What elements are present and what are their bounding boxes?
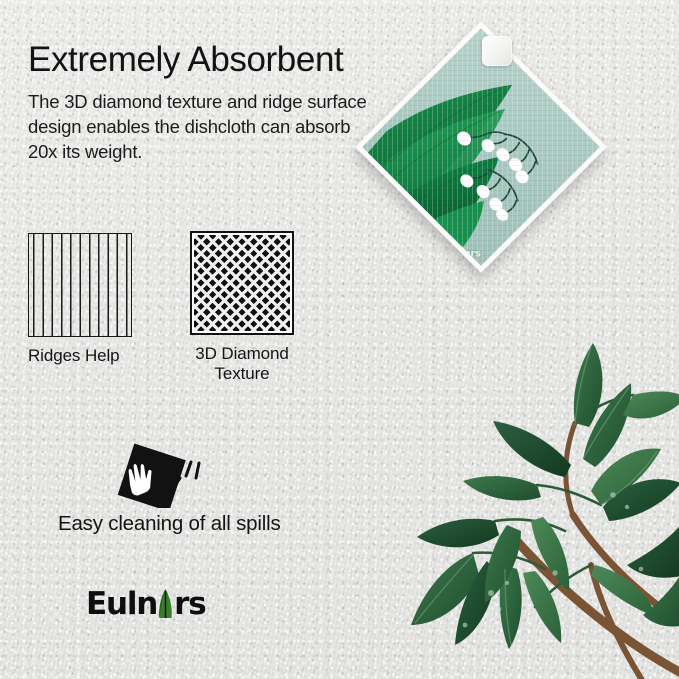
brand-text-suffix: rs (174, 586, 205, 622)
feature-ridges-label: Ridges Help (28, 346, 132, 366)
feature-ridges: Ridges Help (28, 233, 132, 366)
brand-logo: Euln rs (86, 586, 206, 622)
cloth-clip-icon (482, 36, 512, 66)
feature-diamond-texture: 3D Diamond Texture (190, 231, 294, 384)
description-line-2: design enables the dishcloth can absorb (28, 114, 400, 139)
page-title: Extremely Absorbent (28, 38, 343, 82)
description-line-3: 20x its weight. (28, 139, 400, 164)
feature-diamond-label-line1: 3D Diamond (190, 344, 294, 364)
diamond-lattice-icon (190, 231, 294, 335)
ridge-lines (29, 234, 131, 336)
feature-easy-cleaning: Easy cleaning of all spills (58, 440, 274, 536)
hand-wiping-cloth-icon (58, 440, 274, 508)
feature-spills-label: Easy cleaning of all spills (58, 512, 274, 536)
brand-leaf-icon (156, 589, 175, 619)
plant-branch (395, 325, 679, 679)
description-line-1: The 3D diamond texture and ridge surface (28, 89, 400, 114)
product-infographic: Extremely Absorbent The 3D diamond textu… (0, 0, 679, 679)
description-text: The 3D diamond texture and ridge surface… (28, 89, 400, 164)
feature-diamond-label: 3D Diamond Texture (190, 344, 294, 384)
vertical-ridges-icon (28, 233, 132, 337)
diamond-lattice-fill (194, 235, 290, 331)
dishcloth-brand-mark: Eulnars (441, 248, 480, 259)
hanging-dishcloth: Eulnars (360, 30, 610, 330)
brand-text-prefix: Euln (86, 586, 157, 622)
feature-diamond-label-line2: Texture (190, 364, 294, 384)
